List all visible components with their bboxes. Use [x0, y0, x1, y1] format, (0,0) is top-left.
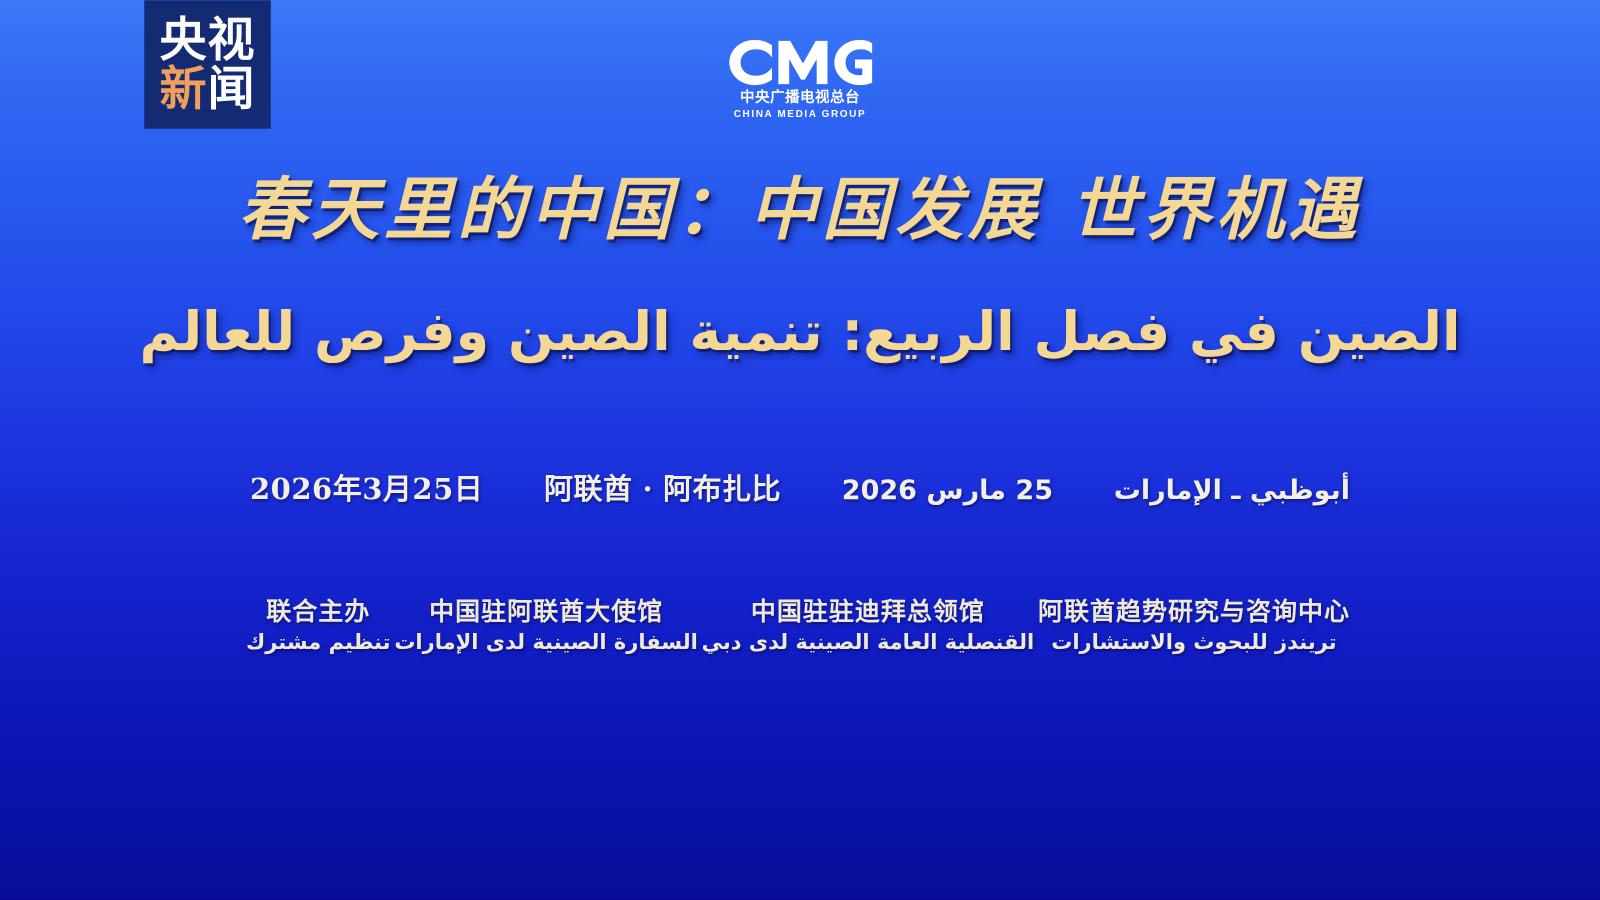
- organizer-trends-research-advisory: 阿联酋趋势研究与咨询中心 تريندز للبحوث والاستشارات: [1038, 596, 1350, 656]
- organizer-chinese-embassy-uae: 中国驻阿联酋大使馆 السفارة الصينية لدى الإمارات: [394, 596, 697, 656]
- cmg-logo-chinese-name: 中央广播电视总台: [740, 91, 860, 107]
- organizer-name-arabic: تريندز للبحوث والاستشارات: [1038, 629, 1350, 655]
- organizer-name-chinese: 中国驻阿联酋大使馆: [394, 596, 697, 627]
- organizer-name-arabic: تنظيم مشترك: [246, 629, 391, 655]
- main-title-arabic: الصين في فصل الربيع: تنمية الصين وفرص لل…: [0, 298, 1600, 366]
- main-title-chinese: 春天里的中国：中国发展 世界机遇: [0, 172, 1600, 248]
- event-venue-city-chinese: 阿布扎比: [663, 472, 781, 506]
- organizer-name-chinese: 中国驻驻迪拜总领馆: [702, 596, 1035, 627]
- organizer-chinese-consulate-dubai: 中国驻驻迪拜总领馆 القنصلية العامة الصينية لدى دب…: [702, 596, 1035, 656]
- event-date-chinese: 2026年3月25日: [250, 466, 483, 508]
- event-venue-country-chinese: 阿联酋: [544, 472, 633, 506]
- organizer-name-chinese: 阿联酋趋势研究与咨询中心: [1038, 596, 1350, 627]
- organizer-name-arabic: السفارة الصينية لدى الإمارات: [394, 629, 697, 655]
- organizer-co-host-label: 联合主办 تنظيم مشترك: [246, 596, 391, 656]
- cmg-wordmark-icon: [726, 36, 874, 89]
- event-venue-arabic: أبوظبي ـ الإمارات: [1114, 475, 1350, 506]
- event-meta-row: 2026年3月25日 阿联酋·阿布扎比 25 مارس 2026 أبوظبي …: [250, 466, 1350, 508]
- organizer-name-chinese: 联合主办: [246, 596, 391, 627]
- event-poster-slide: 央 视 新 闻 中央广播电视总台 CHINA MEDIA GROUP 春天里的中…: [0, 0, 1600, 900]
- cmg-logo: 中央广播电视总台 CHINA MEDIA GROUP: [0, 36, 1600, 120]
- event-venue-chinese: 阿联酋·阿布扎比: [544, 466, 781, 508]
- cmg-logo-english-name: CHINA MEDIA GROUP: [734, 109, 867, 120]
- organizers-row: 联合主办 تنظيم مشترك 中国驻阿联酋大使馆 السفارة الصين…: [246, 596, 1350, 656]
- event-date-arabic: 25 مارس 2026: [842, 475, 1053, 506]
- organizer-name-arabic: القنصلية العامة الصينية لدى دبي: [702, 629, 1035, 655]
- venue-separator-icon: ·: [632, 472, 663, 506]
